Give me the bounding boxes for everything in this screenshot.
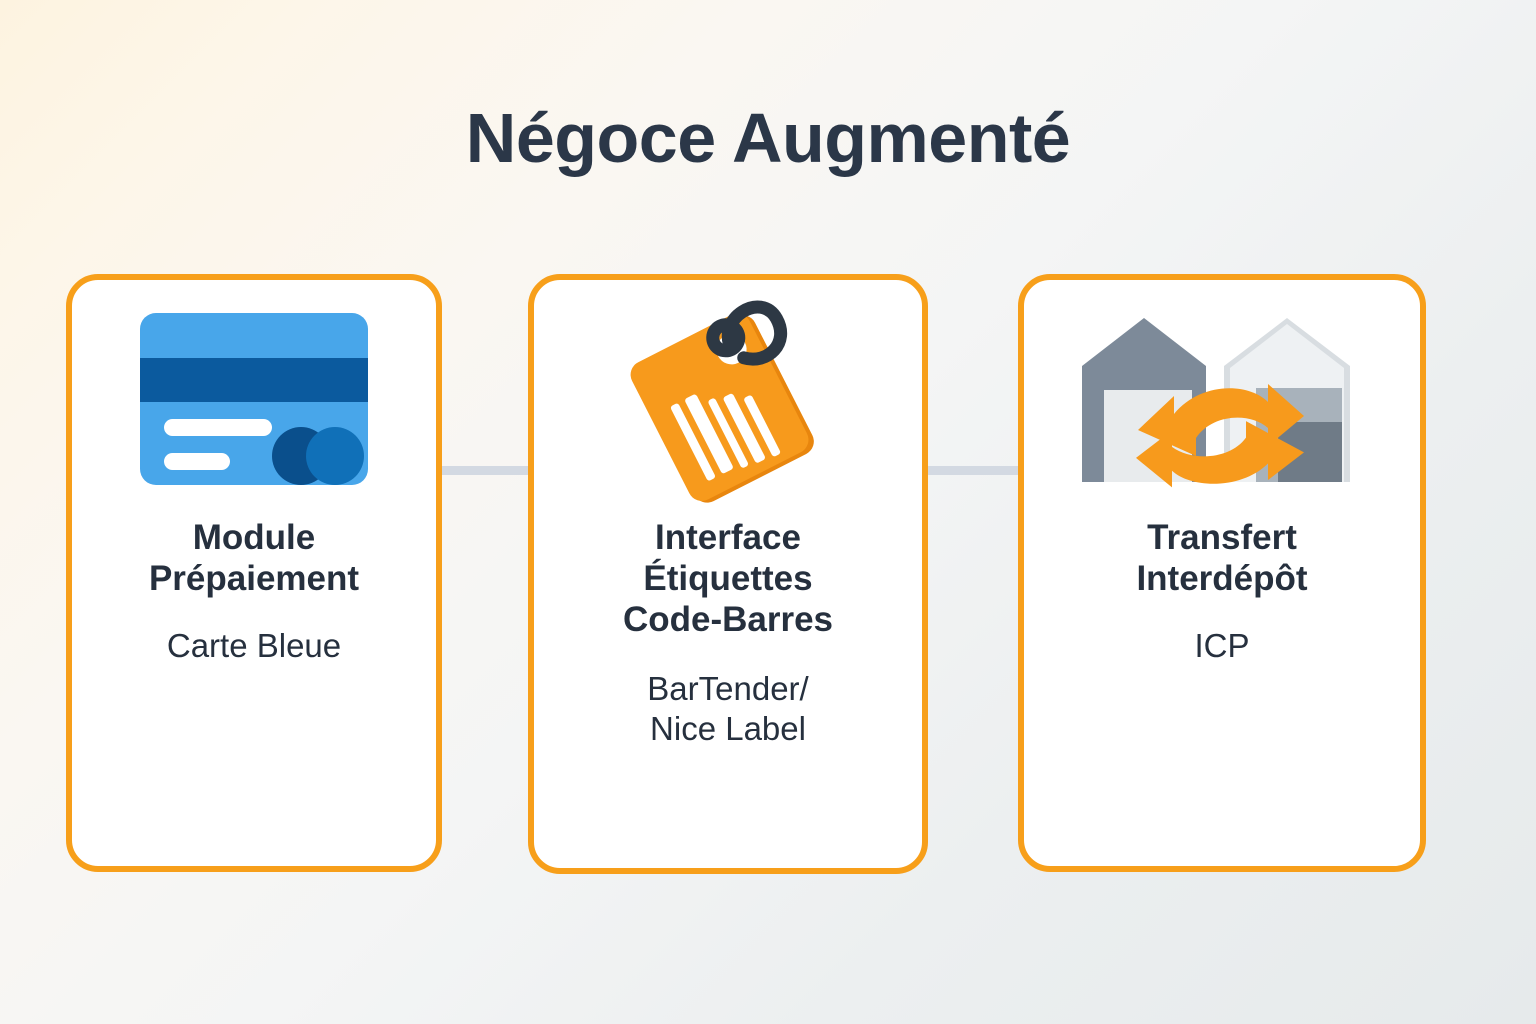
card-subtitle-barcode: BarTender/ Nice Label	[633, 669, 822, 750]
price-tag-icon-wrap	[534, 280, 922, 518]
warehouse-transfer-icon-wrap	[1024, 280, 1420, 518]
card-title-line: Code-Barres	[623, 600, 833, 641]
card-transfert-interdepot[interactable]: Transfert Interdépôt ICP	[1018, 274, 1426, 872]
card-title-barcode: Interface Étiquettes Code-Barres	[609, 518, 847, 641]
card-subtitle-line: BarTender/	[647, 669, 808, 709]
card-subtitle-line: Nice Label	[647, 709, 808, 749]
card-title-line: Interface	[623, 518, 833, 559]
card-title-line: Interdépôt	[1136, 559, 1307, 600]
credit-card-icon-wrap	[72, 280, 436, 518]
credit-card-line-long	[164, 419, 272, 436]
credit-card-circle-right	[306, 427, 364, 485]
price-tag-barcode-icon	[613, 284, 843, 514]
connector-line-card1-card2	[432, 466, 536, 475]
credit-card-line-short	[164, 453, 230, 470]
card-title-line: Étiquettes	[623, 559, 833, 600]
card-interface-etiquettes-code-barres[interactable]: Interface Étiquettes Code-Barres BarTend…	[528, 274, 928, 874]
card-title-line: Transfert	[1136, 518, 1307, 559]
card-title-line: Prépaiement	[149, 559, 359, 600]
credit-card-magnetic-stripe	[140, 358, 368, 402]
warehouse-transfer-icon	[1072, 304, 1372, 494]
credit-card-icon	[140, 313, 368, 485]
connector-line-card2-card3	[920, 466, 1024, 475]
card-title-line: Module	[149, 518, 359, 559]
card-title-prepayment: Module Prépaiement	[135, 518, 373, 600]
card-subtitle-transfer: ICP	[1180, 626, 1263, 666]
card-module-prepayment[interactable]: Module Prépaiement Carte Bleue	[66, 274, 442, 872]
card-subtitle-prepayment: Carte Bleue	[153, 626, 355, 666]
page-title: Négoce Augmenté	[0, 98, 1536, 178]
card-title-transfer: Transfert Interdépôt	[1122, 518, 1321, 600]
